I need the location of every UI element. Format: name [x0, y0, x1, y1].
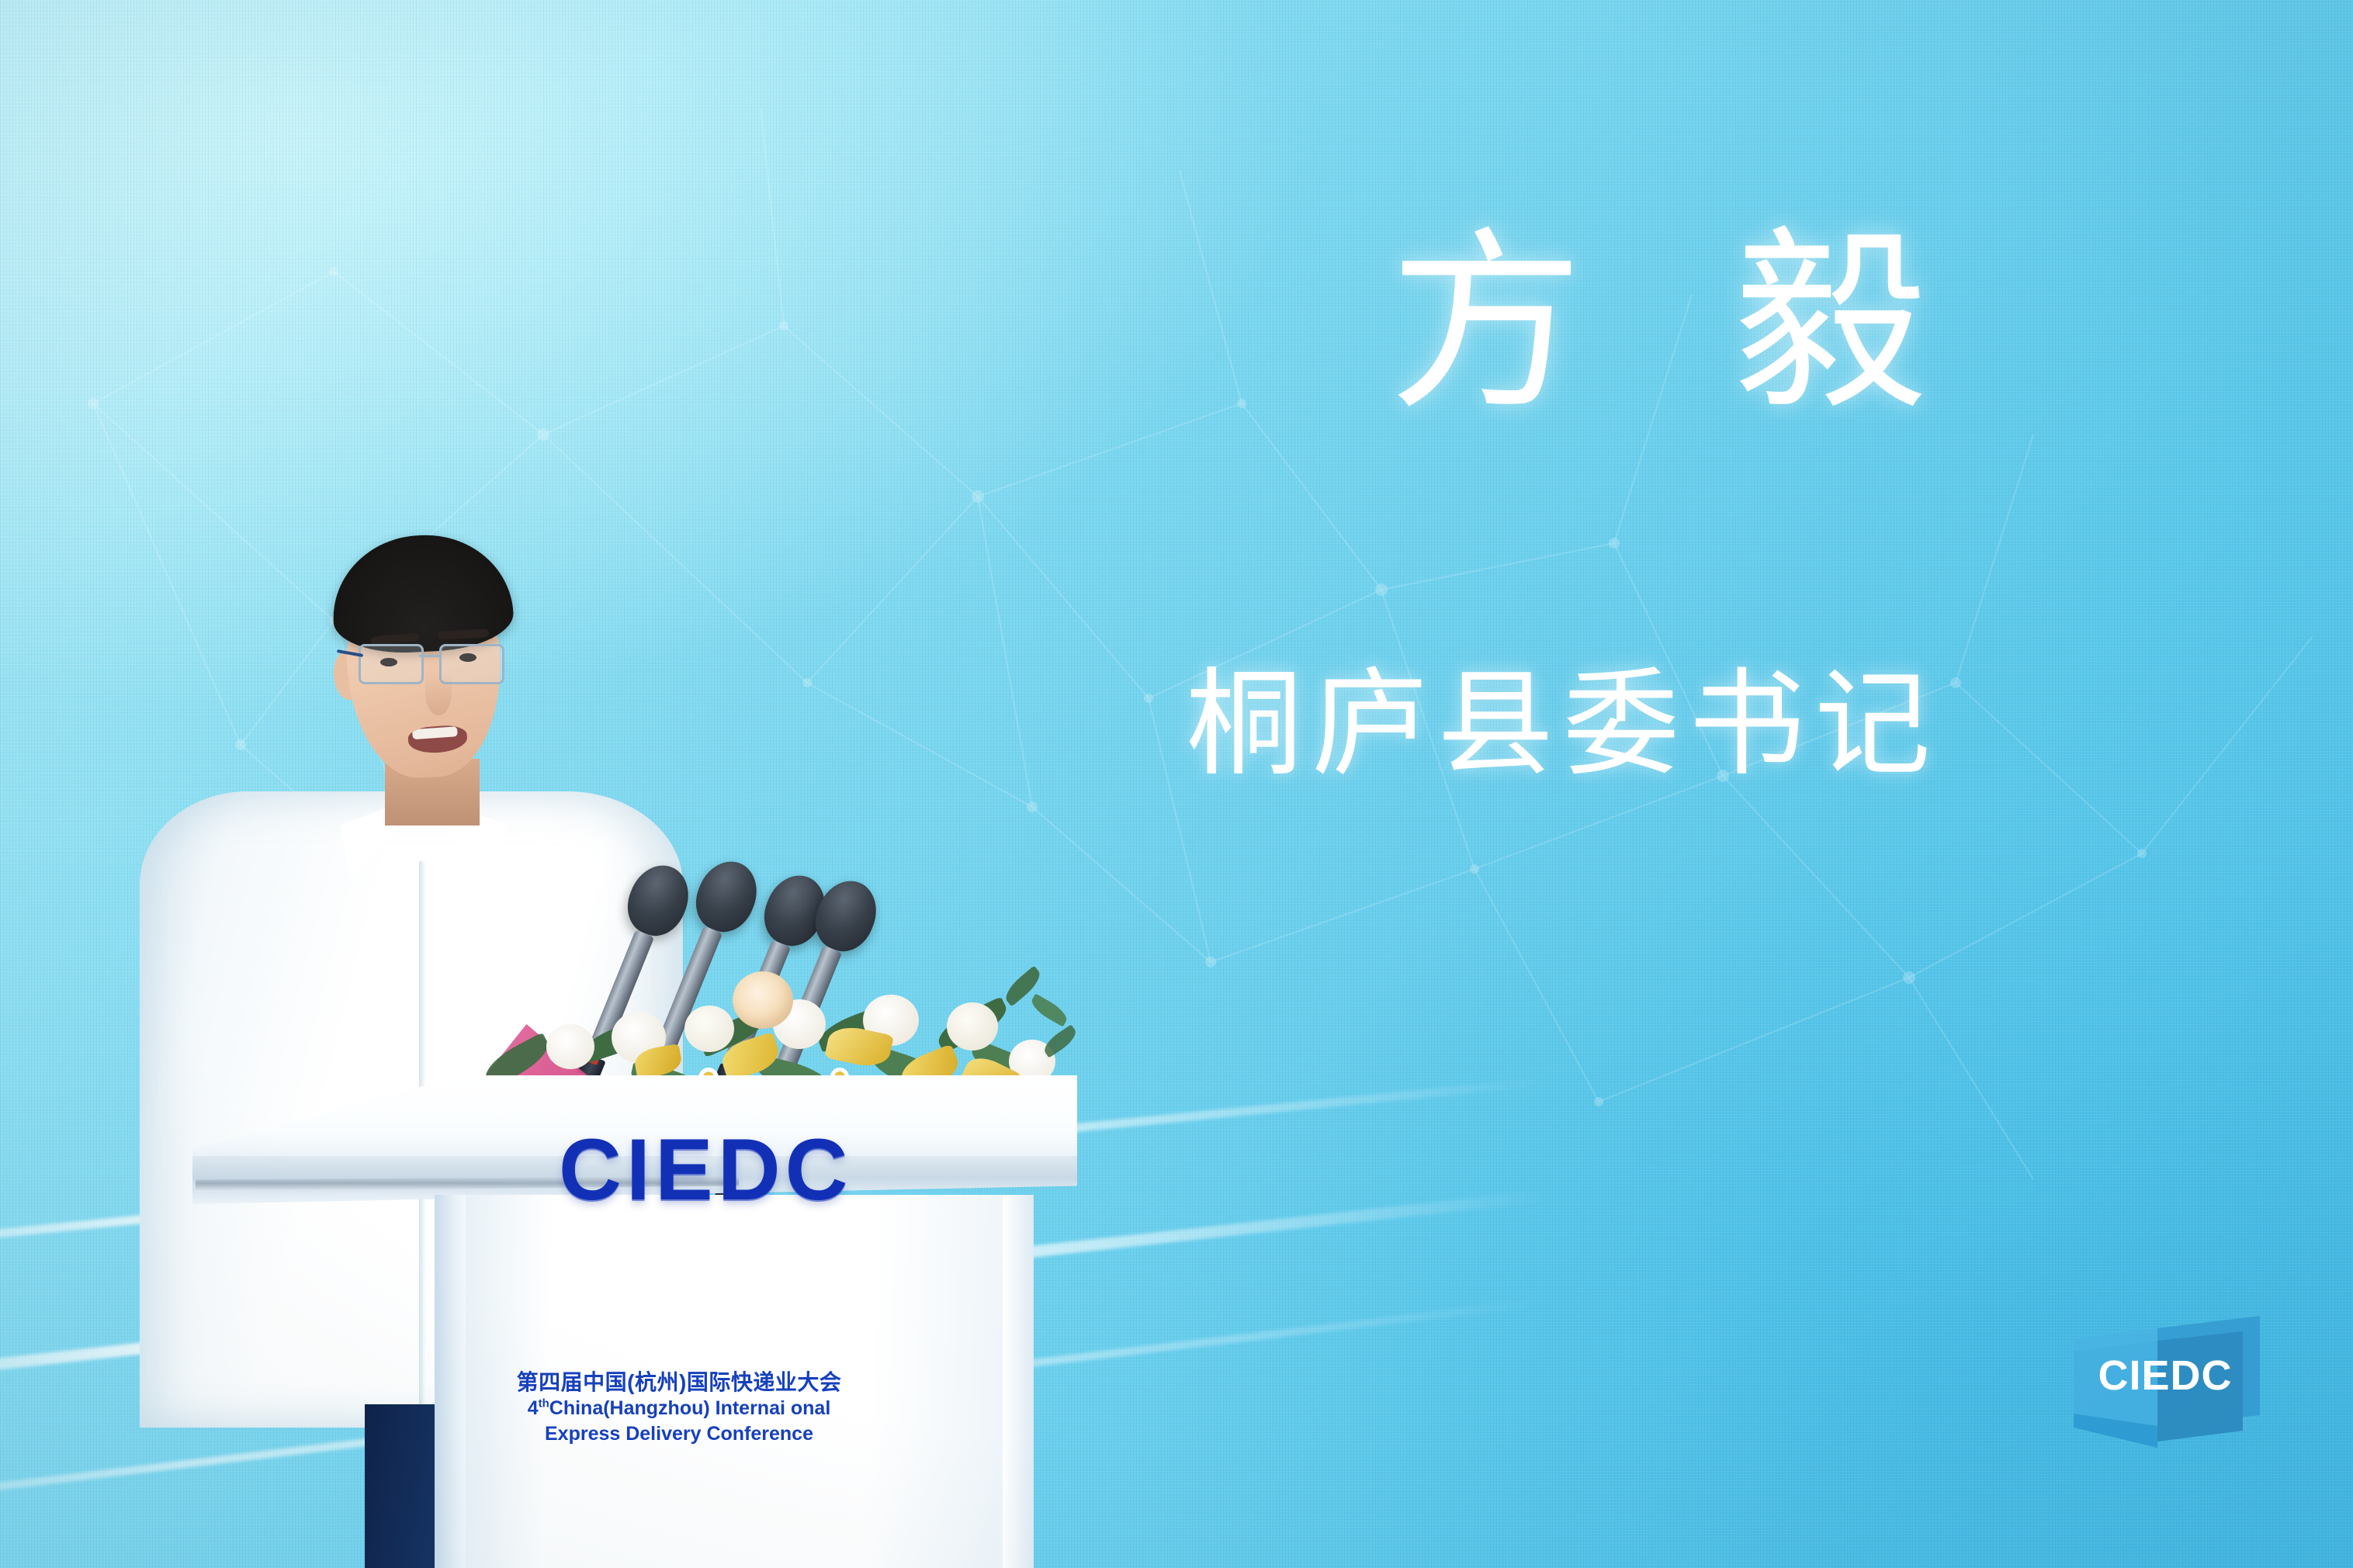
screen-speaker-title: 桐庐县委书记	[1186, 666, 1940, 782]
ciedc-logo-text: CIEDC	[2057, 1352, 2274, 1400]
podium-title-english-line1: 4thChina(Hangzhou) Internai onal	[497, 1396, 861, 1421]
speaker-nose	[425, 672, 452, 715]
podium-conference-title: 第四届中国(杭州)国际快递业大会 4thChina(Hangzhou) Inte…	[497, 1369, 861, 1446]
podium-title-english-line2: Express Delivery Conference	[497, 1421, 861, 1447]
speaker-hair	[329, 531, 515, 656]
podium-ordinal-suffix: th	[539, 1397, 549, 1411]
podium-right-bevel	[1003, 1195, 1034, 1568]
screen-speaker-name: 方 毅	[1389, 227, 1975, 421]
ciedc-logo: CIEDC	[2057, 1310, 2274, 1465]
podium-ordinal-number: 4	[528, 1397, 539, 1419]
podium-ciedc-logo: CIEDC	[559, 1127, 924, 1213]
screenshot-root: 方 毅 桐庐县委书记 CIEDC	[0, 0, 2353, 1568]
podium-title-english-rest: China(Hangzhou) Internai onal	[549, 1397, 831, 1419]
podium-title-chinese: 第四届中国(杭州)国际快递业大会	[497, 1369, 861, 1396]
